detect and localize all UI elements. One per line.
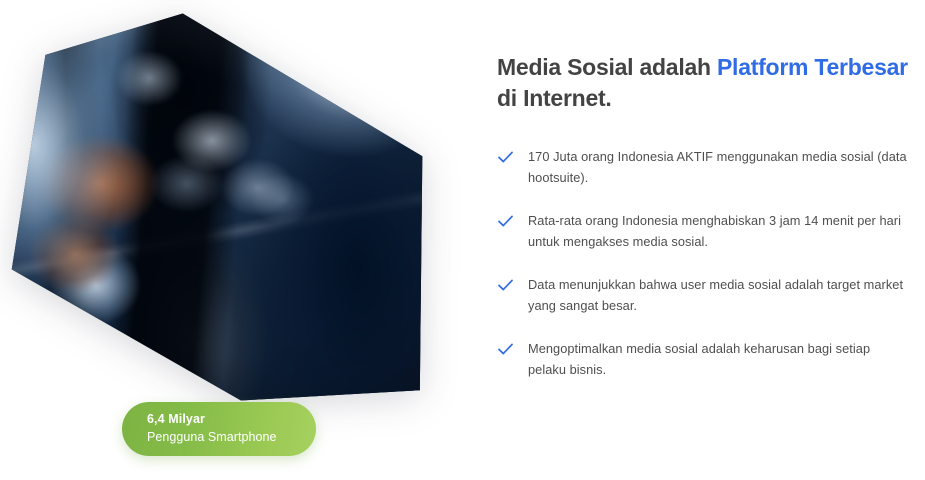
page-title-part-2: di Internet. (497, 85, 612, 111)
status-badge: 6,4 Milyar Pengguna Smartphone (122, 402, 316, 456)
check-icon (497, 149, 514, 166)
list-item-label: Mengoptimalkan media sosial adalah kehar… (528, 341, 870, 377)
status-badge-label: Pengguna Smartphone (147, 428, 316, 446)
page-title: Media Sosial adalah Platform Terbesar di… (497, 52, 917, 114)
check-icon (497, 341, 514, 358)
list-item: 170 Juta orang Indonesia AKTIF menggunak… (497, 147, 907, 188)
list-item-label: 170 Juta orang Indonesia AKTIF menggunak… (528, 149, 907, 185)
list-item: Data menunjukkan bahwa user media sosial… (497, 275, 907, 316)
list-item: Rata-rata orang Indonesia menghabiskan 3… (497, 211, 907, 252)
list-item-label: Data menunjukkan bahwa user media sosial… (528, 277, 903, 313)
list-item-label: Rata-rata orang Indonesia menghabiskan 3… (528, 213, 901, 249)
page-title-accent: Platform Terbesar (717, 54, 908, 80)
list-item: Mengoptimalkan media sosial adalah kehar… (497, 339, 907, 380)
photo-vignette-overlay (8, 12, 424, 402)
check-icon (497, 213, 514, 230)
hero-image-container (8, 12, 424, 402)
benefits-list: 170 Juta orang Indonesia AKTIF menggunak… (497, 147, 917, 380)
content-column: Media Sosial adalah Platform Terbesar di… (497, 52, 917, 380)
hexagon-frame (8, 12, 424, 402)
hexagon-clip (8, 12, 424, 402)
status-badge-value: 6,4 Milyar (147, 411, 316, 428)
page-title-part-1: Media Sosial adalah (497, 54, 717, 80)
check-icon (497, 277, 514, 294)
slide-root: 6,4 Milyar Pengguna Smartphone Media Sos… (0, 0, 925, 480)
